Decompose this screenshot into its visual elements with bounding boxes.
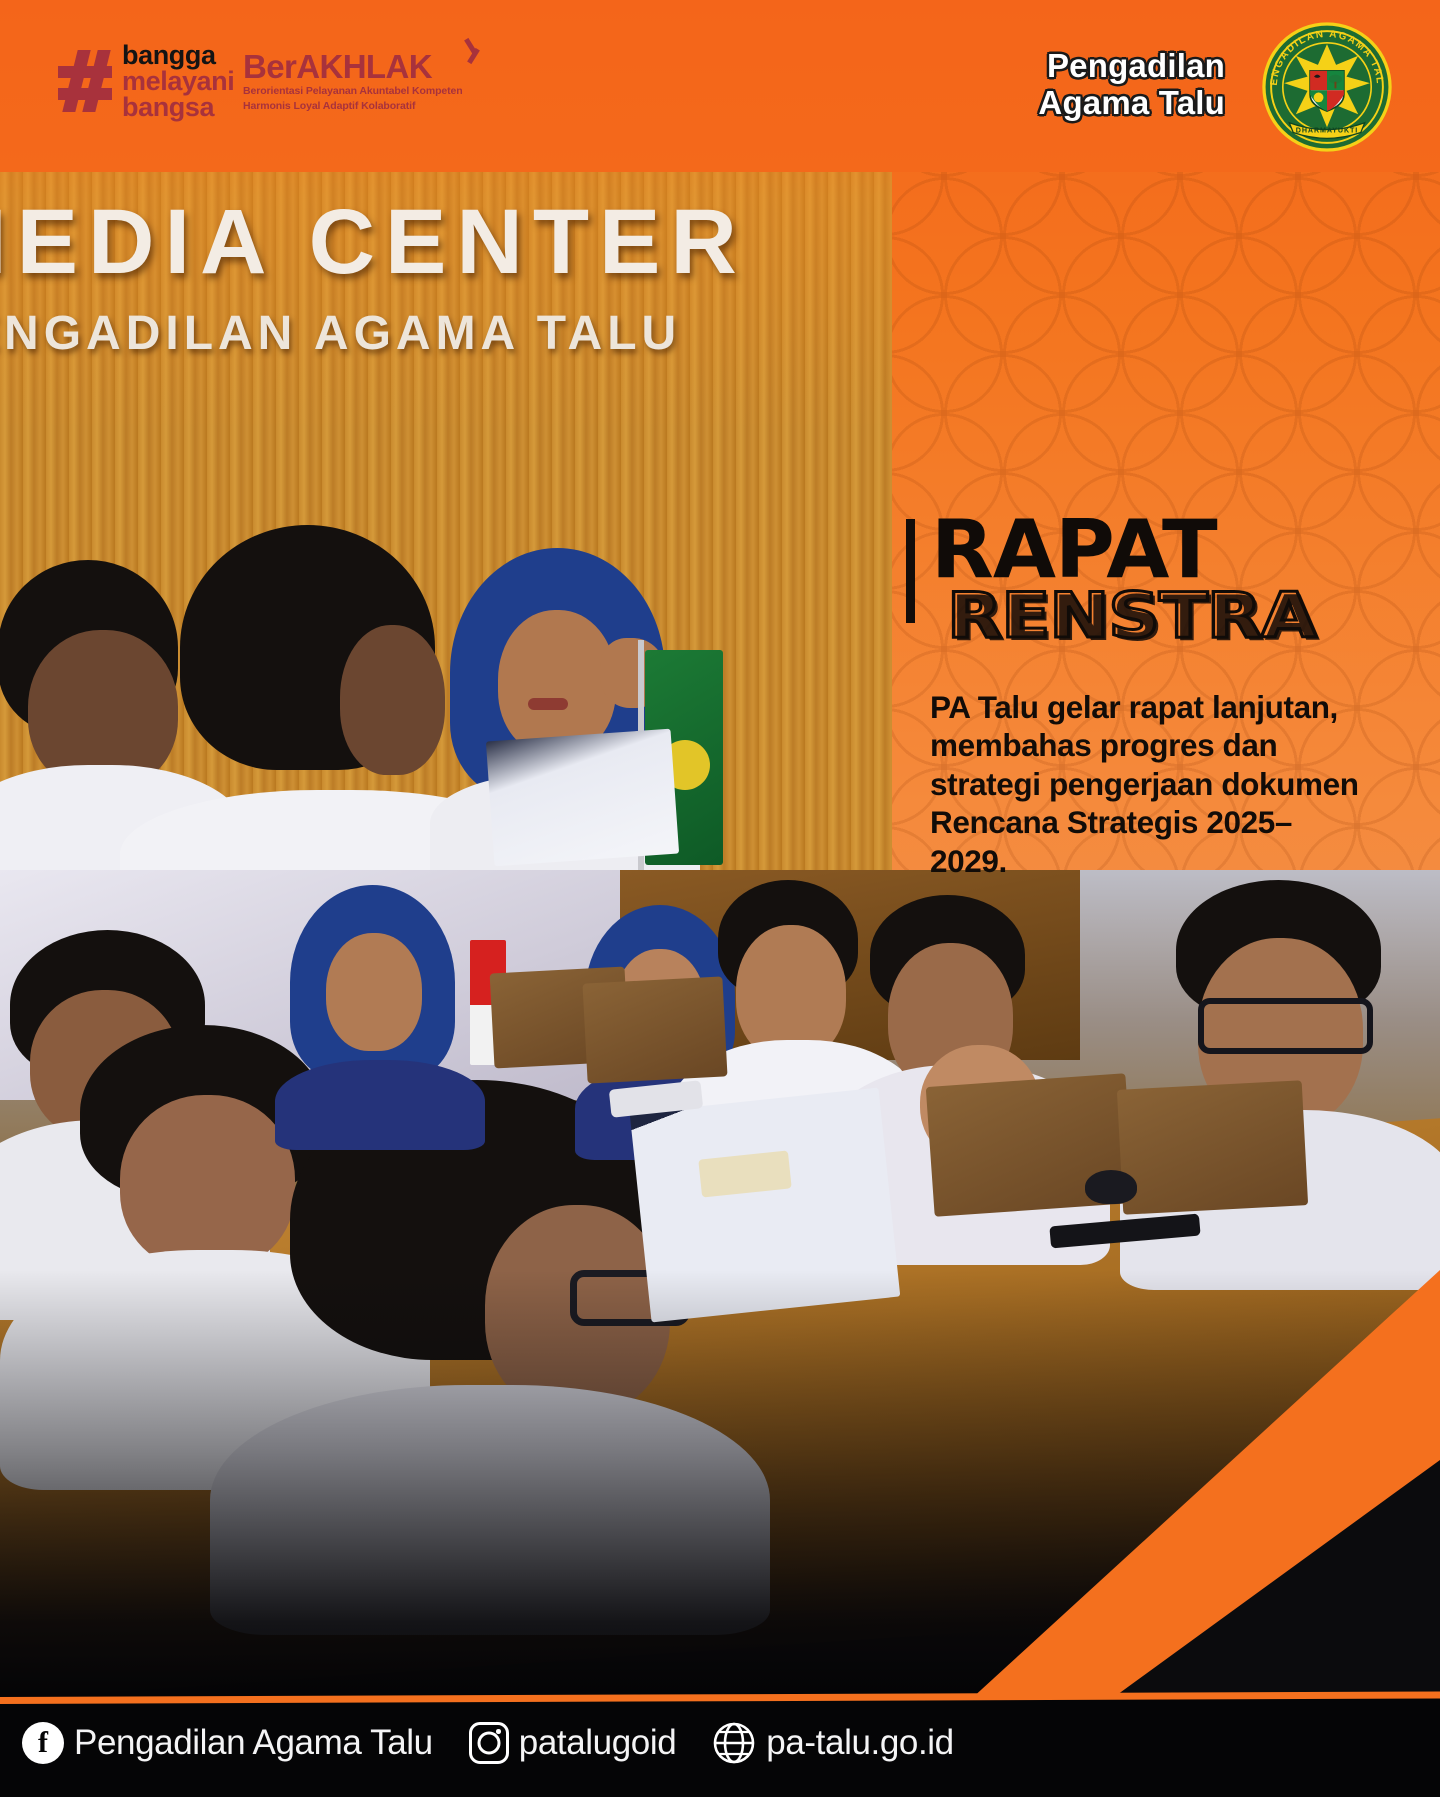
globe-icon: [712, 1721, 756, 1765]
footer-item-website[interactable]: pa-talu.go.id: [712, 1721, 953, 1765]
hash-icon: [58, 50, 112, 112]
headline-line1: RAPAT: [931, 516, 1271, 585]
wall-sign-line1: MEDIA CENTER: [0, 196, 830, 288]
header-bar: bangga melayani bangsa BerAKHLAK Berorie…: [0, 0, 1440, 172]
headline-block: RAPAT RENSTRA: [906, 516, 1265, 642]
footer-item-facebook[interactable]: f Pengadilan Agama Talu: [22, 1722, 433, 1764]
bangga-melayani-bangsa-logo: bangga melayani bangsa: [58, 42, 234, 121]
footer-bar: f Pengadilan Agama Talu patalugoid pa-ta…: [0, 1697, 1440, 1797]
headline-accent-bar: [906, 519, 915, 623]
headline-line2: RENSTRA: [947, 589, 1315, 642]
poster-canvas: MEDIA CENTER PENGADILAN AGAMA TALU: [0, 0, 1440, 1797]
bangga-line1: bangga: [122, 42, 234, 68]
laptop-b: [582, 976, 727, 1083]
bangga-line3: bangsa: [122, 94, 234, 120]
pengadilan-agama-talu-emblem: PENGADILAN AGAMA TALU DHARMAYUKTI: [1262, 22, 1392, 152]
court-title-line1: Pengadilan: [1038, 48, 1225, 85]
svg-text:DHARMAYUKTI: DHARMAYUKTI: [1296, 127, 1358, 135]
person-back-center: [170, 525, 470, 900]
person-hijab-mid: [290, 885, 480, 1135]
berakhlak-wordmark: BerAKHLAK: [243, 48, 432, 85]
website-label: pa-talu.go.id: [766, 1723, 953, 1763]
wall-sign-line2: PENGADILAN AGAMA TALU: [0, 310, 830, 358]
berakhlak-logo: BerAKHLAK Berorientasi Pelayanan Akuntab…: [243, 50, 463, 114]
court-title-line2: Agama Talu: [1038, 85, 1225, 122]
court-title: Pengadilan Agama Talu: [1038, 48, 1225, 122]
footer-item-instagram[interactable]: patalugoid: [469, 1722, 677, 1764]
footer-social-row: f Pengadilan Agama Talu patalugoid pa-ta…: [22, 1721, 990, 1765]
instagram-label: patalugoid: [519, 1723, 677, 1763]
eyeglasses-right-icon: [1198, 998, 1373, 1054]
laptop-foreground: [630, 1088, 901, 1323]
body-copy: PA Talu gelar rapat lanjutan, membahas p…: [930, 688, 1360, 880]
berakhlak-tagline-line1: Berorientasi Pelayanan Akuntabel Kompete…: [243, 85, 463, 98]
facebook-icon: f: [22, 1722, 64, 1764]
facebook-label: Pengadilan Agama Talu: [74, 1723, 433, 1763]
berakhlak-tagline-line2: Harmonis Loyal Adaptif Kolaboratif: [243, 100, 463, 113]
instagram-icon: [469, 1722, 509, 1764]
eyeglasses-icon: [570, 1270, 690, 1326]
wall-signage: MEDIA CENTER PENGADILAN AGAMA TALU: [0, 196, 830, 358]
bangga-line2: melayani: [122, 68, 234, 94]
laptop-speaker: [486, 729, 679, 867]
laptop-d: [1117, 1080, 1308, 1215]
chevron-right-icon: [468, 36, 485, 62]
mouse-icon: [1085, 1170, 1137, 1204]
